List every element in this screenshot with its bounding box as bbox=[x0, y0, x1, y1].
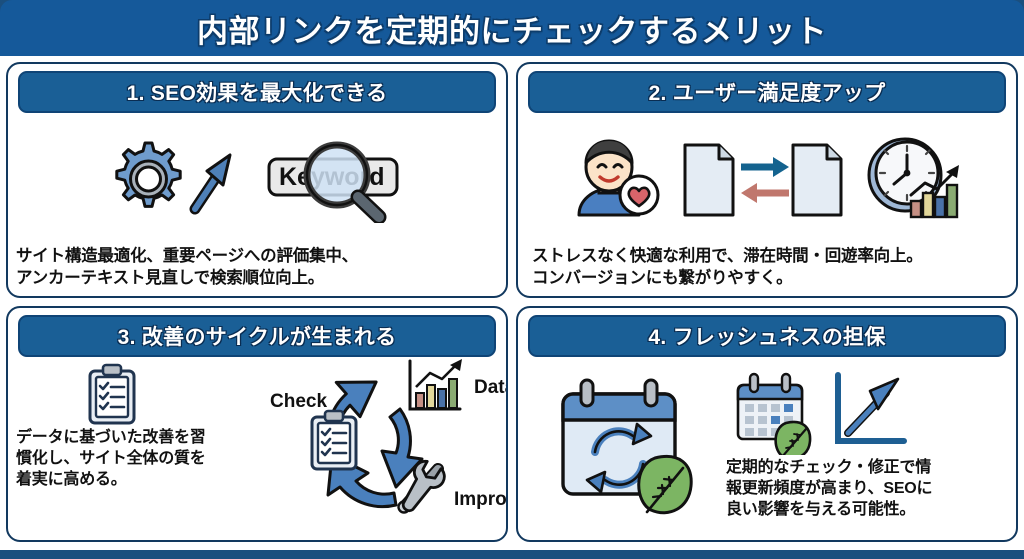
growth-arrow-icon bbox=[195, 155, 230, 209]
card-4-icon-row bbox=[730, 371, 910, 455]
benefit-card-2[interactable]: 2. ユーザー満足度アップ bbox=[516, 62, 1018, 298]
gear-growth-icon bbox=[99, 137, 239, 223]
card-2-icon-row bbox=[526, 113, 1008, 246]
card-4-text-line-3: 良い影響を与える可能性。 bbox=[726, 499, 932, 520]
calendar-leaf-icon bbox=[730, 371, 822, 455]
card-3-header: 3. 改善のサイクルが生まれる bbox=[18, 315, 496, 357]
card-2-text: ストレスなく快適な利用で、滞在時間・回遊率向上。 コンバージョンにも繋がりやすく… bbox=[526, 246, 1008, 290]
footer-strip bbox=[0, 550, 1024, 559]
benefit-card-1[interactable]: 1. SEO効果を最大化できる bbox=[6, 62, 508, 298]
growth-arrow-chart-icon bbox=[828, 371, 910, 455]
card-2-title: 2. ユーザー満足度アップ bbox=[649, 77, 886, 107]
card-4-header: 4. フレッシュネスの担保 bbox=[528, 315, 1006, 357]
clipboard-checklist-icon bbox=[86, 363, 138, 425]
document-exchange-icon bbox=[681, 137, 845, 223]
page-title: 内部リンクを定期的にチェックするメリット bbox=[197, 6, 827, 51]
benefit-card-3[interactable]: 3. 改善のサイクルが生まれる bbox=[6, 306, 508, 542]
leaf-icon bbox=[776, 422, 810, 455]
card-1-text: サイト構造最適化、重要ページへの評価集中、 アンカーテキスト見直しで検索順位向上… bbox=[16, 246, 498, 290]
card-1-icon-row: Keyword bbox=[16, 113, 498, 246]
arrow-right-icon bbox=[741, 157, 789, 177]
card-1-text-line-2: アンカーテキスト見直しで検索順位向上。 bbox=[16, 268, 498, 290]
improvement-cycle-diagram: Check Data Improve bbox=[266, 357, 498, 534]
card-3-text-line-3: 着実に高める。 bbox=[16, 469, 206, 490]
card-4-text: 定期的なチェック・修正で情 報更新頻度が高まり、SEOに 良い影響を与える可能性… bbox=[726, 457, 932, 520]
card-2-text-line-2: コンバージョンにも繋がりやすく。 bbox=[532, 268, 1008, 290]
card-1-body: Keyword サイト構造最適化、重要ページへの評価集中、 アンカーテキスト見直… bbox=[16, 113, 498, 290]
card-3-title: 3. 改善のサイクルが生まれる bbox=[118, 321, 397, 351]
cycle-label-data: Data bbox=[474, 377, 508, 399]
bar-chart-icon bbox=[410, 359, 462, 409]
cycle-label-improve: Improve bbox=[454, 489, 508, 511]
happy-user-heart-icon bbox=[571, 137, 663, 223]
card-1-text-line-1: サイト構造最適化、重要ページへの評価集中、 bbox=[16, 246, 498, 268]
card-2-text-line-1: ストレスなく快適な利用で、滞在時間・回遊率向上。 bbox=[532, 246, 1008, 268]
keyword-magnifier-icon: Keyword bbox=[265, 137, 415, 223]
card-4-body: 定期的なチェック・修正で情 報更新頻度が高まり、SEOに 良い影響を与える可能性… bbox=[526, 357, 1008, 534]
card-3-text-line-2: 慣化し、サイト全体の質を bbox=[16, 448, 206, 469]
card-3-text: データに基づいた改善を習 慣化し、サイト全体の質を 着実に高める。 bbox=[16, 427, 206, 490]
leaf-icon bbox=[639, 456, 691, 512]
infographic-page: 内部リンクを定期的にチェックするメリット 1. SEO効果を最大化できる bbox=[0, 0, 1024, 559]
card-2-header: 2. ユーザー満足度アップ bbox=[528, 71, 1006, 113]
card-4-text-line-2: 報更新頻度が高まり、SEOに bbox=[726, 478, 932, 499]
title-banner: 内部リンクを定期的にチェックするメリット bbox=[0, 0, 1024, 56]
benefit-card-4[interactable]: 4. フレッシュネスの担保 bbox=[516, 306, 1018, 542]
card-3-text-line-1: データに基づいた改善を習 bbox=[16, 427, 206, 448]
cycle-clipboard-icon bbox=[312, 411, 356, 469]
card-4-text-line-1: 定期的なチェック・修正で情 bbox=[726, 457, 932, 478]
cycle-label-check: Check bbox=[270, 391, 327, 413]
arrow-left-icon bbox=[741, 183, 789, 203]
card-3-body: データに基づいた改善を習 慣化し、サイト全体の質を 着実に高める。 bbox=[16, 357, 498, 534]
card-2-body: ストレスなく快適な利用で、滞在時間・回遊率向上。 コンバージョンにも繋がりやすく… bbox=[526, 113, 1008, 290]
calendar-refresh-leaf-icon bbox=[551, 376, 701, 516]
card-1-title: 1. SEO効果を最大化できる bbox=[127, 77, 388, 107]
card-1-header: 1. SEO効果を最大化できる bbox=[18, 71, 496, 113]
benefit-card-grid: 1. SEO効果を最大化できる bbox=[0, 56, 1024, 550]
clock-chart-icon bbox=[863, 135, 963, 225]
card-4-title: 4. フレッシュネスの担保 bbox=[648, 321, 885, 351]
